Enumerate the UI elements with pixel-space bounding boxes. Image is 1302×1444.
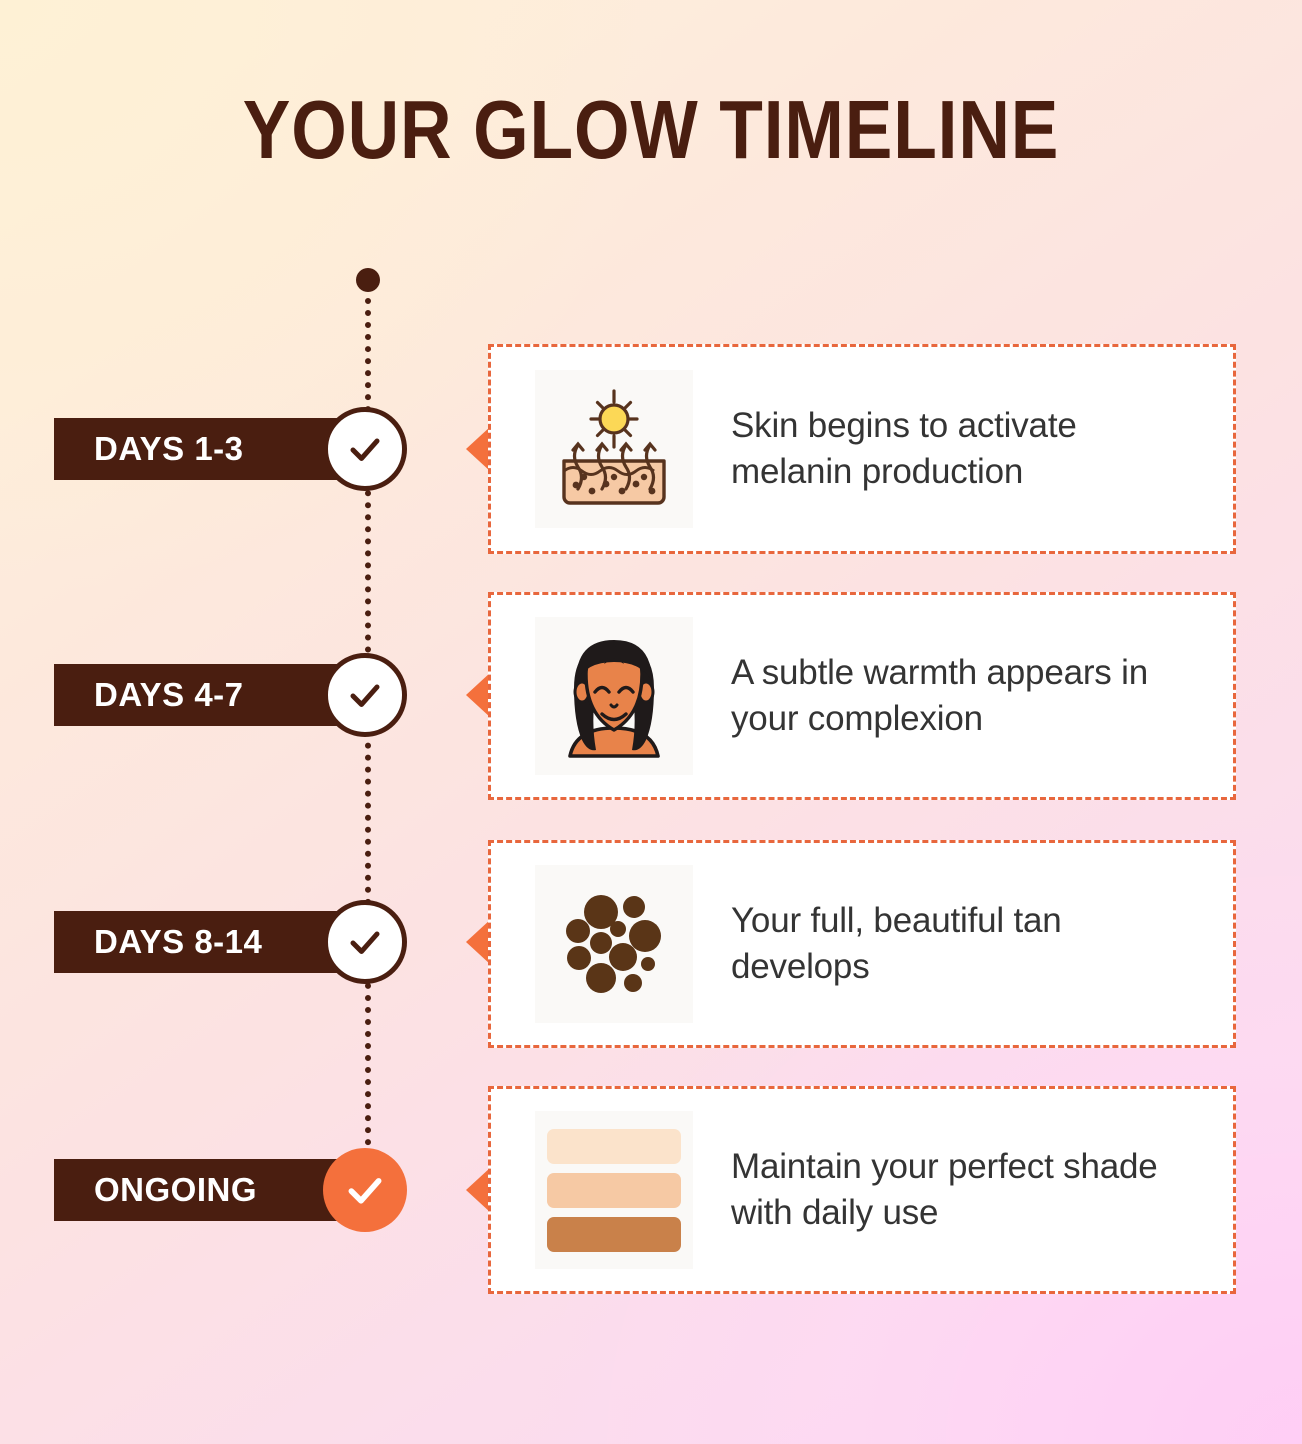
swatch-deep — [547, 1217, 681, 1252]
step-card-3[interactable]: Your full, beautiful tan develops — [488, 840, 1236, 1048]
step-badge-label: DAYS 1-3 — [94, 430, 244, 468]
step-card-1[interactable]: Skin begins to activate melanin producti… — [488, 344, 1236, 554]
step-check-circle-3[interactable] — [323, 900, 407, 984]
swatch-medium — [547, 1173, 681, 1208]
melanin-dots-cluster-icon — [549, 879, 679, 1009]
step-card-4[interactable]: Maintain your perfect shade with daily u… — [488, 1086, 1236, 1294]
step-card-text-2: A subtle warmth appears in your complexi… — [731, 650, 1207, 742]
step-icon-tile-4 — [535, 1111, 693, 1269]
step-card-text-3: Your full, beautiful tan develops — [731, 898, 1207, 990]
step-card-2[interactable]: A subtle warmth appears in your complexi… — [488, 592, 1236, 800]
swatch-light — [547, 1129, 681, 1164]
check-icon — [343, 427, 387, 471]
infographic-page: YOUR GLOW TIMELINE DAYS 1-3 — [0, 0, 1302, 1444]
step-badge-label: DAYS 8-14 — [94, 923, 262, 961]
smiling-woman-face-icon — [544, 626, 684, 766]
step-icon-tile-2 — [535, 617, 693, 775]
step-icon-tile-3 — [535, 865, 693, 1023]
step-check-circle-1[interactable] — [323, 407, 407, 491]
step-card-text-4: Maintain your perfect shade with daily u… — [731, 1144, 1207, 1236]
timeline-start-dot-icon — [356, 268, 380, 292]
step-check-circle-2[interactable] — [323, 653, 407, 737]
step-icon-tile-1 — [535, 370, 693, 528]
step-badge-label: ONGOING — [94, 1171, 257, 1209]
sun-over-skin-icon — [544, 379, 684, 519]
skin-shade-swatches-icon — [547, 1129, 681, 1252]
check-icon — [343, 920, 387, 964]
step-check-circle-4[interactable] — [323, 1148, 407, 1232]
step-badge-label: DAYS 4-7 — [94, 676, 244, 714]
check-icon — [343, 673, 387, 717]
page-title: YOUR GLOW TIMELINE — [91, 88, 1211, 171]
check-icon — [340, 1165, 390, 1215]
step-card-text-1: Skin begins to activate melanin producti… — [731, 403, 1207, 495]
